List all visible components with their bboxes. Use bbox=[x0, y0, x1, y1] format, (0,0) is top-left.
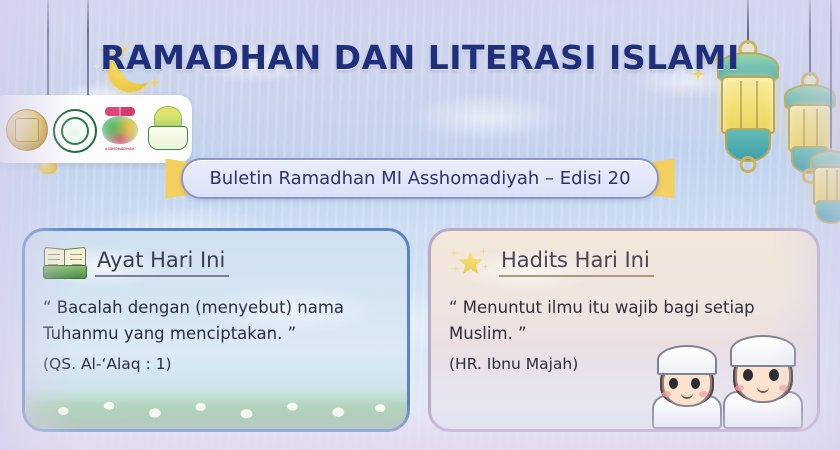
boy-left bbox=[647, 337, 727, 429]
banner-label: Buletin Ramadhan MI Asshomadiyah – Edisi… bbox=[181, 158, 658, 199]
lantern-icon-small bbox=[806, 0, 840, 240]
sparkle-icon bbox=[676, 86, 684, 94]
quote-line-1: “ Bacalah dengan (menyebut) nama bbox=[43, 298, 344, 317]
page-title: RAMADHAN DAN LITERASI ISLAMI bbox=[0, 38, 840, 77]
boy-right bbox=[719, 325, 807, 429]
card-hadits-hari-ini: Hadits Hari Ini “ Menuntut ilmu itu waji… bbox=[428, 228, 820, 432]
quote-line-2: Tuhanmu yang menciptakan. ” bbox=[43, 321, 387, 347]
logo-caption: ASSHOMADIYAH bbox=[100, 147, 140, 151]
card-heading: Hadits Hari Ini bbox=[499, 248, 654, 277]
ramadhan-bulletin-poster: RAMADHAN DAN LITERASI ISLAMI ASSHOMADIYA… bbox=[0, 0, 840, 450]
card-source: (QS. Al-‘Alaq : 1) bbox=[43, 355, 387, 373]
asshomadiyah-colored-logo: ASSHOMADIYAH bbox=[100, 106, 138, 152]
card-quote: “ Bacalah dengan (menyebut) nama Tuhanmu… bbox=[43, 295, 387, 346]
institution-logo-strip: ASSHOMADIYAH bbox=[0, 95, 192, 163]
bulletin-banner: Buletin Ramadhan MI Asshomadiyah – Edisi… bbox=[0, 158, 840, 199]
card-ayat-hari-ini: Ayat Hari Ini “ Bacalah dengan (menyebut… bbox=[22, 228, 410, 432]
star-icon bbox=[449, 245, 491, 279]
green-dome-logo bbox=[147, 106, 185, 152]
card-heading: Ayat Hari Ini bbox=[95, 248, 229, 277]
two-muslim-boys-illustration bbox=[637, 319, 813, 429]
gold-seal-logo bbox=[6, 106, 44, 152]
quote-line-1: “ Menuntut ilmu itu wajib bagi setiap bbox=[449, 298, 755, 317]
open-book-icon bbox=[43, 245, 87, 279]
green-ring-logo bbox=[53, 106, 91, 152]
